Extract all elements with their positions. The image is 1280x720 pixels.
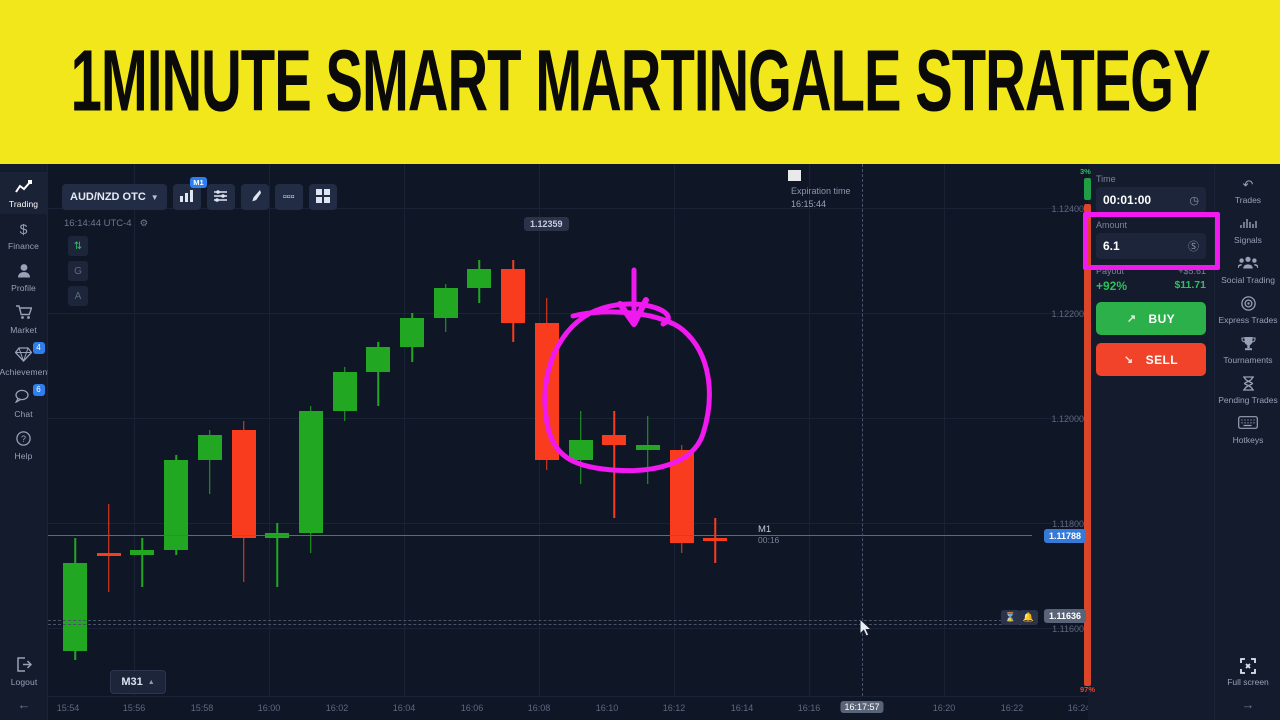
- arrow-up-right-icon: ↗: [1127, 312, 1137, 325]
- indicators-button[interactable]: [207, 184, 235, 210]
- clock-time: 16:14:44 UTC-4: [64, 218, 132, 229]
- candle-body: [535, 323, 559, 460]
- candle: [467, 164, 491, 696]
- target-icon: [1215, 296, 1280, 313]
- svg-text:?: ?: [21, 434, 26, 444]
- rail-item-signals[interactable]: Signals: [1215, 210, 1280, 250]
- rail-label: Social Trading: [1215, 275, 1280, 285]
- current-price-line: [48, 535, 1032, 536]
- rail-item-express-trades[interactable]: Express Trades: [1215, 290, 1280, 330]
- expiration-label: Expiration time: [791, 186, 851, 196]
- candle-wick: [142, 538, 144, 587]
- candle-body: [299, 411, 323, 533]
- candle: [636, 164, 660, 696]
- chevron-down-icon: ▼: [151, 193, 159, 202]
- candle-body: [501, 269, 525, 323]
- amount-field[interactable]: Amount 6.1 Ⓢ: [1096, 220, 1206, 259]
- sidebar-item-trading[interactable]: Trading: [0, 172, 48, 214]
- candle-body: [703, 538, 727, 541]
- amount-label: Amount: [1096, 220, 1206, 230]
- candle-body: [434, 288, 458, 317]
- crosshair-vertical: [862, 164, 863, 696]
- candle-body: [333, 372, 357, 411]
- expiration-info: Expiration time 16:15:44: [791, 185, 851, 211]
- rail-item-social-trading[interactable]: Social Trading: [1215, 250, 1280, 290]
- rail-item-pending-trades[interactable]: Pending Trades: [1215, 370, 1280, 410]
- buy-button[interactable]: ↗ BUY: [1096, 302, 1206, 335]
- sidebar-label: Logout: [0, 677, 48, 687]
- alert-price-badge: 1.11636: [1044, 609, 1086, 623]
- candle-body: [602, 435, 626, 445]
- sidebar-item-logout[interactable]: Logout: [0, 657, 48, 687]
- trading-platform-window: Trading $ Finance Profile Market 4: [0, 164, 1280, 720]
- grid-tool-label: G: [74, 266, 82, 277]
- rail-item-tournaments[interactable]: Tournaments: [1215, 330, 1280, 370]
- time-tick: 16:04: [393, 703, 416, 713]
- chart-bars-icon: [179, 189, 194, 205]
- candle-body: [636, 445, 660, 450]
- candle: [569, 164, 593, 696]
- logout-area: Logout ←: [0, 657, 48, 712]
- brush-icon: [248, 189, 262, 206]
- crosshair-horizontal: [48, 624, 1032, 625]
- expiration-value: 16:15:44: [791, 198, 851, 211]
- dollar-circle-icon[interactable]: Ⓢ: [1188, 238, 1199, 254]
- achievements-badge: 4: [33, 342, 45, 354]
- time-tick: 15:58: [191, 703, 214, 713]
- sidebar-label: Finance: [0, 241, 48, 251]
- price-tick: 1.12200: [1051, 309, 1084, 319]
- sell-button[interactable]: ↘ SELL: [1096, 343, 1206, 376]
- candle-body: [670, 450, 694, 543]
- time-input[interactable]: 00:01:00 ◷: [1096, 187, 1206, 213]
- mouse-cursor: [860, 619, 873, 642]
- trade-panel: Time 00:01:00 ◷ Amount 6.1 Ⓢ Payout +$5.…: [1088, 164, 1214, 720]
- candle-wick: [613, 411, 615, 519]
- rail-label: Tournaments: [1215, 355, 1280, 365]
- chevron-up-icon: ▲: [148, 679, 155, 686]
- grid-icon: [316, 189, 330, 206]
- payout-total: $11.71: [1174, 279, 1206, 293]
- chart-clock: 16:14:44 UTC-4 ⚙: [64, 218, 148, 229]
- signal-icon: [1215, 216, 1280, 233]
- candle: [703, 164, 727, 696]
- more-button[interactable]: ▫▫▫: [275, 184, 303, 210]
- candle: [535, 164, 559, 696]
- asset-selector[interactable]: AUD/NZD OTC ▼: [62, 184, 167, 210]
- left-sidebar: Trading $ Finance Profile Market 4: [0, 164, 48, 720]
- rail-item-hotkeys[interactable]: Hotkeys: [1215, 410, 1280, 450]
- arrows-tool-icon: ⇅: [74, 241, 82, 252]
- user-icon: [0, 263, 48, 280]
- ellipsis-icon: ▫▫▫: [283, 191, 295, 203]
- candle-body: [97, 553, 121, 556]
- chart-timeframe-badge: M1: [190, 177, 206, 188]
- candle-body: [130, 550, 154, 555]
- hourglass-icon: [1215, 376, 1280, 393]
- amount-value: 6.1: [1103, 239, 1120, 253]
- trophy-icon: [1215, 336, 1280, 353]
- chart-toolbar: AUD/NZD OTC ▼ M1: [62, 184, 337, 210]
- time-axis: 15:54 15:56 15:58 16:00 16:02 16:04 16:0…: [48, 696, 1088, 720]
- time-value: 00:01:00: [1103, 193, 1151, 207]
- arrows-tool-button[interactable]: ⇅: [68, 236, 88, 256]
- expiration-flag-icon: [788, 170, 801, 181]
- banner-title: 1MINUTE SMART MARTINGALE STRATEGY: [70, 39, 1209, 126]
- chart-area[interactable]: AUD/NZD OTC ▼ M1: [48, 164, 1088, 720]
- asset-name: AUD/NZD OTC: [70, 191, 146, 203]
- price-axis: 1.12400 1.12200 1.12000 1.11800 1.11600 …: [1032, 164, 1088, 720]
- candle: [265, 164, 289, 696]
- candle: [366, 164, 390, 696]
- keyboard-icon: [1215, 416, 1280, 433]
- fullscreen-icon: [1215, 658, 1280, 675]
- fullscreen-button[interactable]: Full screen: [1215, 658, 1280, 687]
- current-price-badge: 1.11788: [1044, 529, 1086, 543]
- price-tick: 1.11600: [1052, 624, 1084, 634]
- indicators-icon: [213, 190, 228, 205]
- sell-label: SELL: [1146, 353, 1178, 367]
- timeframe-value: M31: [121, 676, 142, 688]
- chart-type-button[interactable]: M1: [173, 184, 201, 210]
- time-tick: 15:54: [57, 703, 80, 713]
- candle-body: [366, 347, 390, 371]
- layout-button[interactable]: [309, 184, 337, 210]
- cart-icon: [0, 305, 48, 322]
- time-field[interactable]: Time 00:01:00 ◷: [1096, 174, 1206, 213]
- payout-row: Payout +$5.61: [1096, 266, 1206, 276]
- crosshair-time-label: 16:17:57: [840, 701, 883, 713]
- sidebar-label: Profile: [0, 283, 48, 293]
- sidebar-collapse-arrow-icon[interactable]: ←: [0, 697, 48, 712]
- sidebar-item-chat[interactable]: 6 Chat: [0, 382, 48, 424]
- time-tick: 15:56: [123, 703, 146, 713]
- price-tick: 1.12400: [1051, 204, 1084, 214]
- rail-collapse-arrow-icon[interactable]: →: [1215, 697, 1280, 712]
- sidebar-item-market[interactable]: Market: [0, 298, 48, 340]
- payout-values: +92% $11.71: [1096, 279, 1206, 293]
- candle-body: [467, 269, 491, 289]
- candle-body: [232, 430, 256, 538]
- logout-icon: [0, 657, 48, 674]
- candle: [333, 164, 357, 696]
- timeframe-selector[interactable]: M31 ▲: [110, 670, 166, 694]
- rail-label: Signals: [1215, 235, 1280, 245]
- pending-trade-icon[interactable]: ⌛: [1001, 610, 1020, 625]
- candle: [299, 164, 323, 696]
- sidebar-label: Market: [0, 325, 48, 335]
- candle-body: [63, 563, 87, 651]
- rail-label: Hotkeys: [1215, 435, 1280, 445]
- amount-input[interactable]: 6.1 Ⓢ: [1096, 233, 1206, 259]
- chart-line-icon: [0, 179, 48, 196]
- time-tick: 16:02: [326, 703, 349, 713]
- sidebar-item-help[interactable]: ? Help: [0, 424, 48, 466]
- candle: [400, 164, 424, 696]
- text-tool-label: A: [75, 291, 82, 302]
- sidebar-label: Achievements: [0, 367, 48, 377]
- time-label: Time: [1096, 174, 1206, 184]
- gear-icon[interactable]: ⚙: [140, 218, 149, 229]
- high-price-tag: 1.12359: [524, 217, 569, 231]
- candle-wick: [108, 504, 110, 592]
- chat-badge: 6: [33, 384, 45, 396]
- text-tool-button[interactable]: A: [68, 286, 88, 306]
- candle: [670, 164, 694, 696]
- clock-icon[interactable]: ◷: [1189, 194, 1199, 207]
- buy-label: BUY: [1149, 312, 1176, 326]
- candle-body: [569, 440, 593, 460]
- time-tick: 16:00: [258, 703, 281, 713]
- candle-body: [198, 435, 222, 459]
- sidebar-item-achievements[interactable]: 4 Achievements: [0, 340, 48, 382]
- grid-tool-button[interactable]: G: [68, 261, 88, 281]
- time-tick: 16:16: [798, 703, 821, 713]
- candle: [602, 164, 626, 696]
- price-tick: 1.12000: [1051, 414, 1084, 424]
- time-tick: 16:20: [933, 703, 956, 713]
- app-root: 1MINUTE SMART MARTINGALE STRATEGY Tradin…: [0, 0, 1280, 720]
- time-tick: 16:14: [731, 703, 754, 713]
- alert-price-line: [48, 620, 1032, 621]
- time-tick: 16:12: [663, 703, 686, 713]
- sidebar-label: Chat: [0, 409, 48, 419]
- trade-marker: M1 00:16: [758, 524, 779, 545]
- people-icon: [1215, 256, 1280, 273]
- time-tick: 16:08: [528, 703, 551, 713]
- candle-body: [164, 460, 188, 551]
- question-icon: ?: [0, 431, 48, 448]
- rail-label: Trades: [1215, 195, 1280, 205]
- candle: [232, 164, 256, 696]
- price-tick: 1.11800: [1052, 519, 1084, 529]
- rail-item-trades[interactable]: ↶ Trades: [1215, 170, 1280, 210]
- history-icon: ↶: [1215, 176, 1280, 193]
- payout-delta: +$5.61: [1178, 266, 1206, 276]
- time-tick: 16:22: [1001, 703, 1024, 713]
- candle: [97, 164, 121, 696]
- payout-percent: +92%: [1096, 279, 1127, 293]
- title-banner: 1MINUTE SMART MARTINGALE STRATEGY: [0, 0, 1280, 164]
- time-tick: 16:06: [461, 703, 484, 713]
- fullscreen-area: Full screen →: [1215, 658, 1280, 712]
- marker-countdown: 00:16: [758, 535, 779, 545]
- candle: [130, 164, 154, 696]
- sidebar-item-profile[interactable]: Profile: [0, 256, 48, 298]
- candle: [198, 164, 222, 696]
- rail-label: Express Trades: [1215, 315, 1280, 325]
- right-rail: ↶ Trades Signals Social Trading Express: [1214, 164, 1280, 720]
- candle-body: [400, 318, 424, 347]
- time-tick: 16:10: [596, 703, 619, 713]
- dollar-icon: $: [0, 221, 48, 238]
- marker-label: M1: [758, 524, 779, 535]
- rail-label: Pending Trades: [1215, 395, 1280, 405]
- candle: [164, 164, 188, 696]
- sidebar-item-finance[interactable]: $ Finance: [0, 214, 48, 256]
- fullscreen-label: Full screen: [1215, 677, 1280, 687]
- candlestick-series: [48, 164, 1088, 720]
- chart-side-tools: ⇅ G A: [68, 236, 88, 311]
- drawing-button[interactable]: [241, 184, 269, 210]
- sidebar-label: Help: [0, 451, 48, 461]
- payout-label: Payout: [1096, 266, 1124, 276]
- candle: [434, 164, 458, 696]
- arrow-down-right-icon: ↘: [1124, 353, 1134, 366]
- candle: [501, 164, 525, 696]
- sidebar-label: Trading: [0, 199, 48, 209]
